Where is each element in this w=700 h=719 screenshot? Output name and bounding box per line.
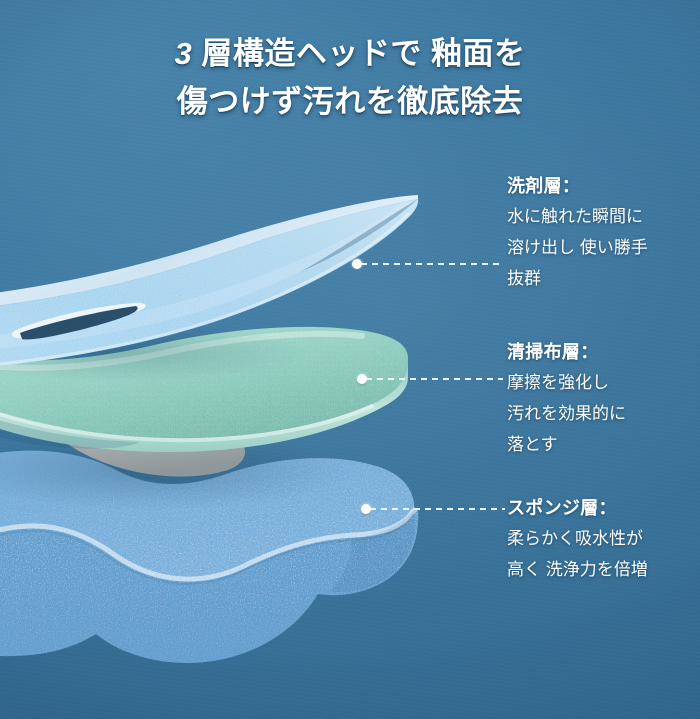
annotation-cleaning-cloth-layer: 清掃布層： 摩擦を強化し 汚れを効果的に 落とす [507, 338, 700, 460]
annotation-line: 溶け出し 使い勝手 [507, 232, 700, 263]
annotation-title-cleaning-cloth-layer: 清掃布層： [507, 338, 700, 367]
annotation-body-cleaning-cloth-layer: 摩擦を強化し 汚れを効果的に 落とす [507, 367, 700, 460]
infographic-canvas: 3 層構造ヘッドで 釉面を 傷つけず汚れを徹底除去 [0, 0, 700, 719]
annotation-detergent-layer: 洗剤層： 水に触れた瞬間に 溶け出し 使い勝手 抜群 [507, 172, 700, 294]
annotation-line: 柔らかく吸水性が [507, 523, 700, 554]
annotation-body-sponge-layer: 柔らかく吸水性が 高く 洗浄力を倍増 [507, 523, 700, 585]
annotation-line: 高く 洗浄力を倍増 [507, 554, 700, 585]
annotation-title-detergent-layer: 洗剤層： [507, 172, 700, 201]
annotation-line: 汚れを効果的に [507, 398, 700, 429]
annotation-line: 水に触れた瞬間に [507, 201, 700, 232]
annotation-line: 抜群 [507, 263, 700, 294]
annotation-line: 落とす [507, 429, 700, 460]
annotation-sponge-layer: スポンジ層： 柔らかく吸水性が 高く 洗浄力を倍増 [507, 494, 700, 585]
annotation-body-detergent-layer: 水に触れた瞬間に 溶け出し 使い勝手 抜群 [507, 201, 700, 294]
annotation-title-sponge-layer: スポンジ層： [507, 494, 700, 523]
annotation-line: 摩擦を強化し [507, 367, 700, 398]
